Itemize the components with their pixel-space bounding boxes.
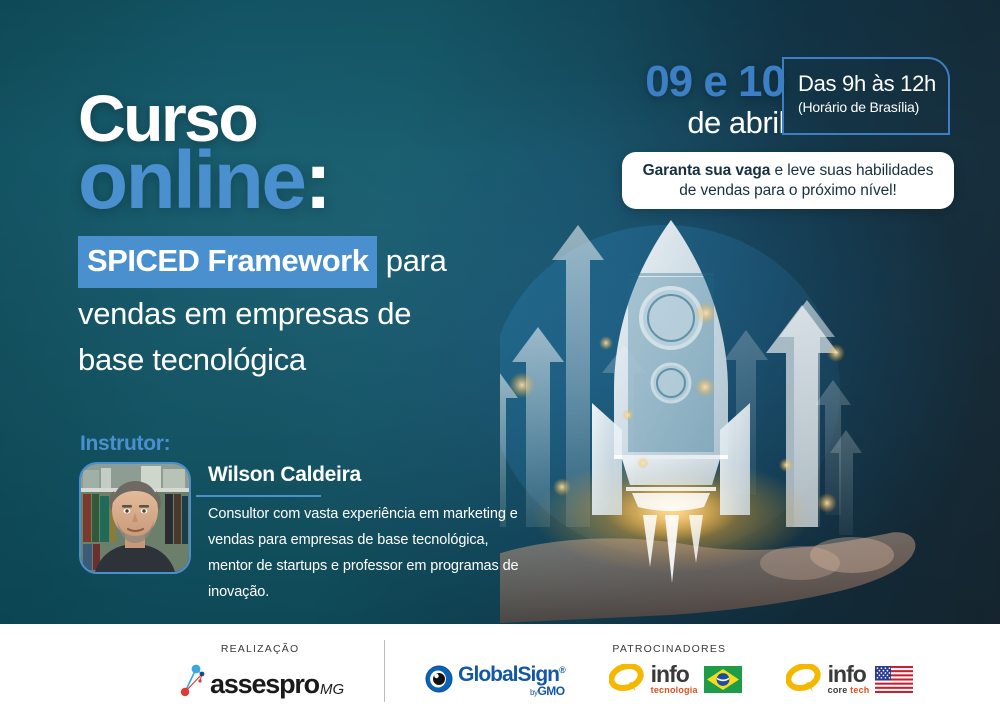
event-hours-main: Das 9h às 12h bbox=[798, 72, 948, 96]
globalsign-by-gmo: byGMO bbox=[458, 685, 564, 699]
assespro-state: MG bbox=[320, 682, 344, 697]
globalsign-eye-icon bbox=[425, 665, 453, 693]
info-q-swoosh-icon bbox=[609, 664, 645, 694]
headline-line-spiced: SPICED Framework para bbox=[78, 236, 548, 289]
headline-line-4: vendas em empresas de bbox=[78, 293, 548, 335]
headline-online-word: online bbox=[78, 135, 304, 226]
patrocinadores-title: PATROCINADORES bbox=[612, 643, 726, 655]
brazil-flag-icon bbox=[704, 666, 742, 693]
spiced-framework-chip: SPICED Framework bbox=[78, 236, 377, 288]
promo-banner: Curso online: SPICED Framework para vend… bbox=[0, 0, 1000, 717]
registered-mark-icon: ® bbox=[559, 665, 565, 675]
cta-bold-text: Garanta sua vaga bbox=[643, 162, 771, 179]
headline-line-online: online: bbox=[78, 142, 548, 220]
event-hours-timezone: (Horário de Brasília) bbox=[798, 98, 948, 116]
headline-line-5: base tecnológica bbox=[78, 339, 548, 381]
info-tecnologia-sub: tecnologia bbox=[651, 685, 698, 696]
event-date-days: 09 e 10 bbox=[620, 60, 785, 104]
instructor-bio: Consultor com vasta experiência em marke… bbox=[208, 501, 528, 605]
usa-flag-icon bbox=[875, 666, 913, 693]
headline-block: Curso online: SPICED Framework para vend… bbox=[78, 86, 548, 381]
instructor-name: Wilson Caldeira bbox=[208, 463, 361, 487]
cta-text: Garanta sua vaga e leve suas habilidades… bbox=[622, 161, 954, 201]
rocket-launch-illustration bbox=[500, 215, 1000, 624]
info-tecnologia-logo[interactable]: info tecnologia bbox=[609, 663, 742, 696]
event-hours-box: Das 9h às 12h (Horário de Brasília) bbox=[782, 57, 950, 135]
sponsor-logo-row: GlobalSign® byGMO info tecnologia bbox=[425, 660, 913, 699]
hero-background: Curso online: SPICED Framework para vend… bbox=[0, 0, 1000, 624]
headline-para-word: para bbox=[377, 243, 446, 278]
info-coretech-wordmark: info bbox=[828, 663, 870, 685]
footer-bar: REALIZAÇÃO assespro MG PATROCI bbox=[0, 624, 1000, 717]
assespro-wordmark: assespro bbox=[210, 671, 319, 698]
event-date-block: 09 e 10 de abril bbox=[620, 60, 785, 140]
footer-divider bbox=[384, 640, 385, 702]
headline-colon: : bbox=[304, 135, 329, 226]
info-wordmark: info bbox=[651, 663, 698, 685]
instructor-divider bbox=[196, 495, 321, 497]
assespro-logo[interactable]: assespro MG bbox=[176, 660, 344, 698]
cta-callout-box[interactable]: Garanta sua vaga e leve suas habilidades… bbox=[622, 152, 954, 209]
info-coretech-sub: core tech bbox=[828, 685, 870, 696]
globalsign-logo[interactable]: GlobalSign® byGMO bbox=[425, 660, 564, 699]
info-coretech-logo[interactable]: info core tech bbox=[786, 663, 914, 696]
event-date-month: de abril bbox=[620, 106, 785, 140]
realizacao-title: REALIZAÇÃO bbox=[221, 643, 300, 655]
assespro-mark-icon bbox=[176, 660, 210, 698]
instructor-label: Instrutor: bbox=[80, 432, 170, 456]
globalsign-wordmark: GlobalSign® bbox=[458, 660, 564, 685]
realizacao-section: REALIZAÇÃO assespro MG bbox=[176, 643, 344, 698]
info-q-swoosh-icon-2 bbox=[786, 664, 822, 694]
instructor-avatar bbox=[79, 462, 191, 574]
patrocinadores-section: PATROCINADORES GlobalSign® byGMO bbox=[425, 643, 913, 699]
